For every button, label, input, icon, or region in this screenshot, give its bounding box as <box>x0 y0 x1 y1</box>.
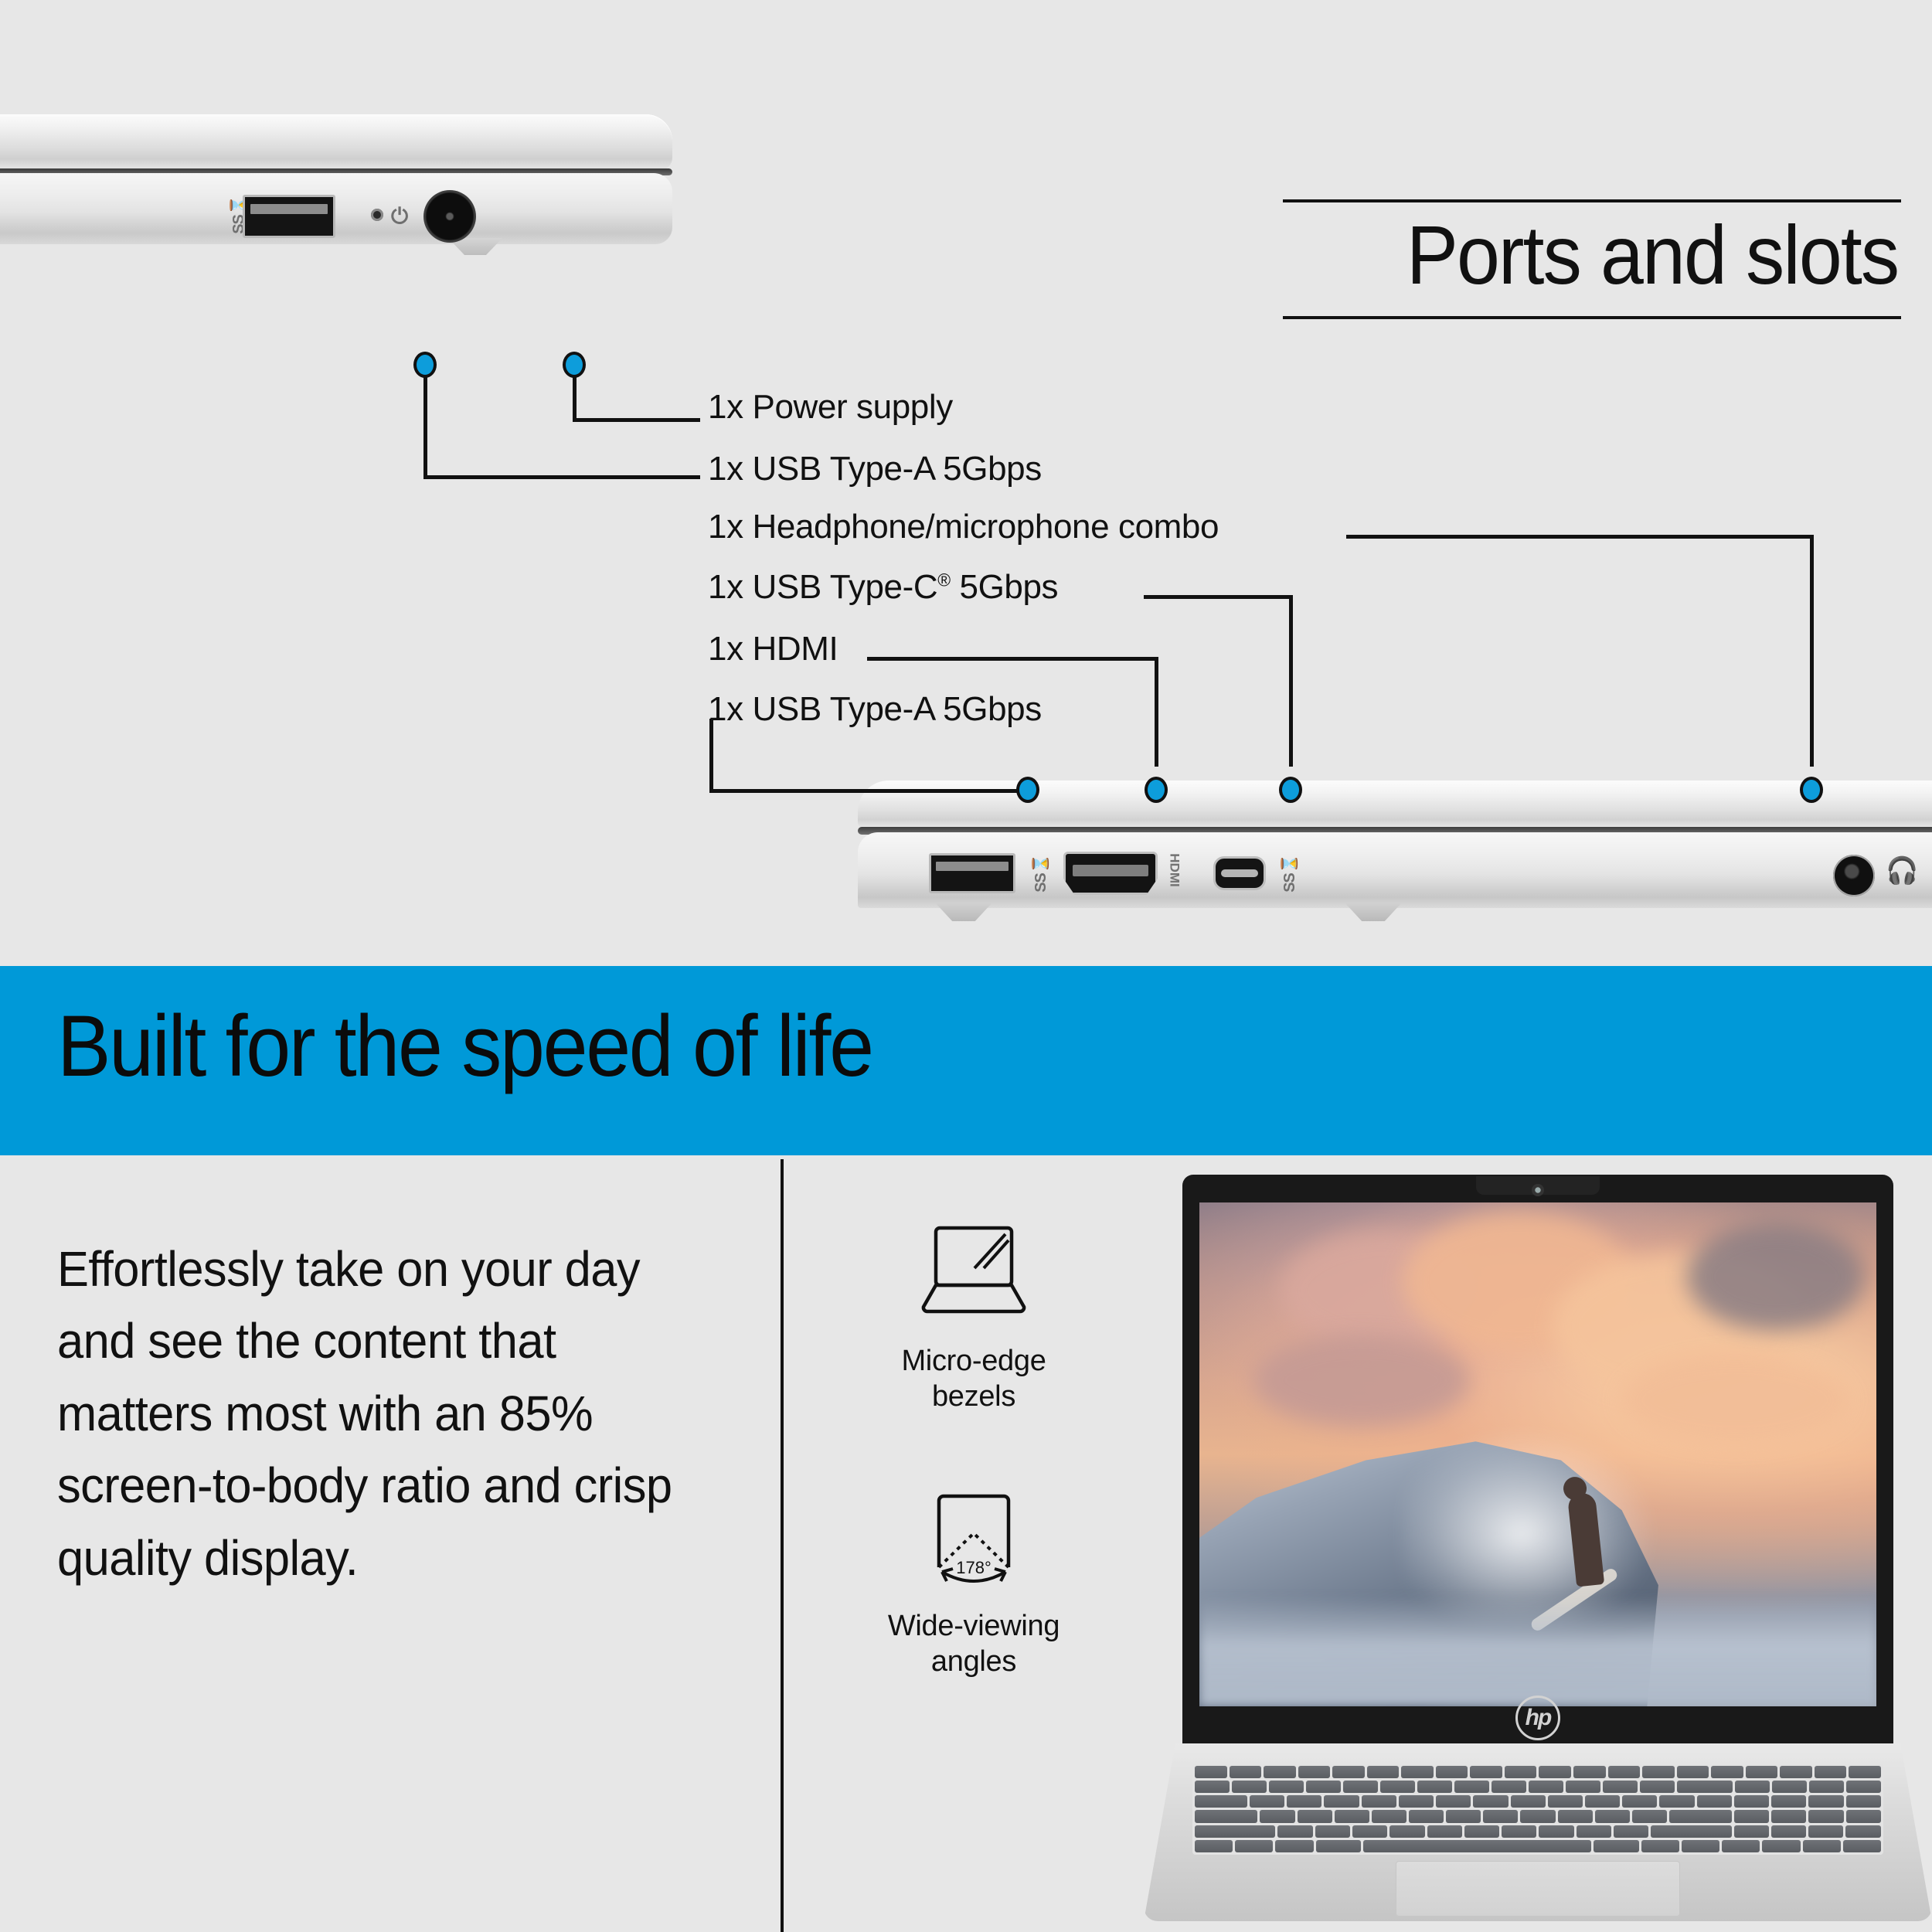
key[interactable] <box>1735 1781 1770 1793</box>
key[interactable] <box>1454 1781 1489 1793</box>
fn-key[interactable] <box>1235 1840 1273 1852</box>
ports-and-slots-section: Ports and slots SS⌛ ⏻ 1x Power supply 1x… <box>0 0 1932 966</box>
key[interactable] <box>1803 1840 1841 1852</box>
key[interactable] <box>1558 1810 1593 1822</box>
key[interactable] <box>1809 1781 1844 1793</box>
key[interactable] <box>1389 1825 1424 1838</box>
key[interactable] <box>1734 1825 1769 1838</box>
laptop-screen-wallpaper <box>1199 1202 1876 1706</box>
leader-line-headphone-h <box>1346 535 1813 539</box>
key[interactable] <box>1603 1781 1638 1793</box>
key[interactable] <box>1548 1795 1583 1808</box>
key[interactable] <box>1771 1810 1806 1822</box>
key[interactable] <box>1315 1825 1350 1838</box>
key[interactable] <box>1622 1795 1657 1808</box>
power-led-icon <box>371 209 383 221</box>
enter-key[interactable] <box>1669 1810 1732 1822</box>
key[interactable] <box>1324 1795 1359 1808</box>
key[interactable] <box>1436 1795 1471 1808</box>
key[interactable] <box>1771 1825 1806 1838</box>
laptop-keyboard-deck <box>1144 1743 1932 1921</box>
key[interactable] <box>1632 1810 1667 1822</box>
key[interactable] <box>1697 1795 1732 1808</box>
micro-edge-bezels-icon <box>862 1213 1086 1329</box>
key[interactable] <box>1577 1825 1611 1838</box>
page-title: Ports and slots <box>1326 202 1901 313</box>
speed-of-life-banner: Built for the speed of life <box>0 966 1932 1155</box>
header-rule-bottom <box>1283 316 1901 319</box>
callout-label-headphone-combo: 1x Headphone/microphone combo <box>708 510 1219 544</box>
laptop-foot-right <box>1345 903 1402 921</box>
key[interactable] <box>1642 1766 1675 1778</box>
key[interactable] <box>1677 1766 1709 1778</box>
callout-label-usb-c: 1x USB Type-C® 5Gbps <box>708 570 1058 604</box>
windows-key[interactable] <box>1275 1840 1313 1852</box>
laptop-lid <box>0 114 672 170</box>
key[interactable] <box>1808 1825 1843 1838</box>
key[interactable] <box>1195 1766 1227 1778</box>
key[interactable] <box>1808 1795 1843 1808</box>
keyboard-row <box>1195 1810 1881 1822</box>
wave-spray <box>1403 1394 1700 1626</box>
registered-mark: ® <box>937 570 950 590</box>
wide-viewing-angles-icon: 178° <box>862 1478 1086 1594</box>
touchpad[interactable] <box>1396 1861 1679 1917</box>
key[interactable] <box>1306 1781 1341 1793</box>
key[interactable] <box>1277 1825 1312 1838</box>
key[interactable] <box>1250 1795 1284 1808</box>
callout-label-usb-c-speed: 5Gbps <box>951 568 1058 606</box>
key[interactable] <box>1659 1795 1694 1808</box>
key[interactable] <box>1846 1781 1881 1793</box>
key[interactable] <box>1230 1766 1262 1778</box>
key[interactable] <box>1473 1795 1508 1808</box>
key[interactable] <box>1614 1825 1648 1838</box>
key[interactable] <box>1539 1766 1571 1778</box>
key[interactable] <box>1734 1810 1769 1822</box>
key[interactable] <box>1573 1766 1606 1778</box>
key[interactable] <box>1849 1766 1881 1778</box>
key[interactable] <box>1298 1766 1331 1778</box>
ports-header: Ports and slots <box>1283 199 1901 319</box>
leader-line-usb-a-top-h <box>423 475 700 479</box>
feature-wide-viewing-angles: 178° Wide-viewing angles <box>862 1478 1086 1680</box>
key[interactable] <box>1401 1766 1434 1778</box>
key[interactable] <box>1446 1810 1481 1822</box>
shift-key[interactable] <box>1195 1825 1275 1838</box>
key[interactable] <box>1780 1766 1812 1778</box>
callout-dot-usb-a-top <box>413 352 437 378</box>
leader-line-hdmi-v <box>1155 657 1158 767</box>
power-plug-icon: ⏻ <box>391 204 407 230</box>
key[interactable] <box>1464 1825 1499 1838</box>
key[interactable] <box>1436 1766 1468 1778</box>
key[interactable] <box>1520 1810 1555 1822</box>
key[interactable] <box>1711 1766 1743 1778</box>
key[interactable] <box>1367 1766 1400 1778</box>
caption-line-2: bezels <box>932 1380 1015 1413</box>
viewing-angle-value: 178° <box>956 1558 992 1577</box>
hdmi-label-icon: HDMI <box>1167 853 1182 886</box>
laptop-base <box>0 173 672 244</box>
key[interactable] <box>1335 1810 1369 1822</box>
key[interactable] <box>1843 1840 1881 1852</box>
key[interactable] <box>1585 1795 1620 1808</box>
key[interactable] <box>1505 1766 1537 1778</box>
hp-logo: hp <box>1515 1696 1560 1740</box>
key[interactable] <box>1427 1825 1462 1838</box>
leader-line-headphone-v <box>1810 535 1814 767</box>
right-alt-key[interactable] <box>1594 1840 1639 1852</box>
key[interactable] <box>1746 1766 1778 1778</box>
section-divider <box>781 1159 784 1932</box>
callout-label-power-supply: 1x Power supply <box>708 390 953 424</box>
wide-viewing-angles-caption: Wide-viewing angles <box>862 1608 1086 1680</box>
superspeed-icon: SS⌛ <box>1280 855 1299 893</box>
leader-line-hdmi-h <box>867 657 1158 661</box>
leader-line-power-supply-v <box>573 376 577 422</box>
usb-type-a-port <box>243 195 335 238</box>
key[interactable] <box>1845 1825 1880 1838</box>
water-foam <box>1199 1596 1876 1706</box>
callout-dot-headphone-combo <box>1800 777 1823 803</box>
key[interactable] <box>1815 1766 1847 1778</box>
key[interactable] <box>1771 1795 1806 1808</box>
key[interactable] <box>1772 1781 1807 1793</box>
callout-dot-power-supply <box>563 352 586 378</box>
key[interactable] <box>1372 1810 1406 1822</box>
laptop-right-edge-image: SS⌛ ⏻ <box>0 114 672 250</box>
key[interactable] <box>1511 1795 1546 1808</box>
keyboard <box>1192 1764 1883 1855</box>
caption-line-2: angles <box>931 1645 1016 1678</box>
key[interactable] <box>1566 1781 1600 1793</box>
leader-line-usb-a-bottom-h <box>709 789 1028 793</box>
caps-lock-key[interactable] <box>1195 1810 1257 1822</box>
feature-icon-column: Micro-edge bezels 178° Wide-viewing angl… <box>862 1213 1086 1679</box>
key[interactable] <box>1502 1825 1536 1838</box>
webcam-icon <box>1532 1184 1544 1196</box>
laptop-product-image: hp <box>1144 1175 1932 1932</box>
key[interactable] <box>1595 1810 1630 1822</box>
arrow-right-key[interactable] <box>1762 1840 1800 1852</box>
keyboard-row <box>1195 1795 1881 1808</box>
superspeed-icon: SS⌛ <box>1031 855 1050 893</box>
key[interactable] <box>1343 1781 1378 1793</box>
key[interactable] <box>1417 1781 1452 1793</box>
feature-micro-edge-bezels: Micro-edge bezels <box>862 1213 1086 1415</box>
keyboard-row <box>1195 1766 1881 1778</box>
key[interactable] <box>1232 1781 1267 1793</box>
key[interactable] <box>1808 1810 1843 1822</box>
space-key[interactable] <box>1363 1840 1591 1852</box>
key[interactable] <box>1539 1825 1573 1838</box>
key[interactable] <box>1409 1810 1444 1822</box>
key[interactable] <box>1608 1766 1641 1778</box>
right-shift-key[interactable] <box>1651 1825 1731 1838</box>
key[interactable] <box>1483 1810 1518 1822</box>
display-features-section: Effortlessly take on your day and see th… <box>0 1159 1932 1932</box>
callout-label-usb-a-bottom: 1x USB Type-A 5Gbps <box>708 692 1042 726</box>
right-ctrl-key[interactable] <box>1641 1840 1679 1852</box>
key[interactable] <box>1332 1766 1365 1778</box>
power-supply-jack <box>423 190 476 243</box>
key[interactable] <box>1264 1766 1296 1778</box>
arrow-left-key[interactable] <box>1682 1840 1719 1852</box>
key[interactable] <box>1260 1810 1294 1822</box>
leader-line-power-supply-h <box>573 418 700 422</box>
keyboard-row <box>1195 1840 1881 1852</box>
keyboard-row <box>1195 1825 1881 1838</box>
key[interactable] <box>1529 1781 1563 1793</box>
tab-key[interactable] <box>1195 1795 1247 1808</box>
headset-icon: 🎧 <box>1886 858 1918 884</box>
feature-body-copy: Effortlessly take on your day and see th… <box>57 1233 710 1594</box>
micro-edge-bezels-caption: Micro-edge bezels <box>862 1343 1086 1415</box>
usb-type-a-port <box>929 853 1015 893</box>
ctrl-key[interactable] <box>1195 1840 1233 1852</box>
laptop-display-lid: hp <box>1182 1175 1893 1747</box>
headphone-microphone-jack <box>1833 855 1875 896</box>
hdmi-port <box>1063 852 1158 895</box>
callout-dot-hdmi <box>1145 777 1168 803</box>
leader-line-usb-c-h <box>1144 595 1293 599</box>
key[interactable] <box>1470 1766 1502 1778</box>
usb-type-c-port <box>1213 856 1266 890</box>
key[interactable] <box>1380 1781 1415 1793</box>
leader-line-usb-a-top-v <box>423 376 427 479</box>
backspace-key[interactable] <box>1677 1781 1733 1793</box>
key[interactable] <box>1195 1781 1230 1793</box>
laptop-base <box>858 832 1932 908</box>
callout-dot-usb-c <box>1279 777 1302 803</box>
alt-key[interactable] <box>1316 1840 1362 1852</box>
callout-label-usb-a-top: 1x USB Type-A 5Gbps <box>708 452 1042 486</box>
laptop-left-edge-image: SS⌛ HDMI SS⌛ 🎧 <box>858 781 1932 935</box>
key[interactable] <box>1492 1781 1526 1793</box>
arrow-up-down-key[interactable] <box>1722 1840 1760 1852</box>
key[interactable] <box>1362 1795 1396 1808</box>
caption-line-1: Wide-viewing <box>888 1610 1060 1642</box>
key[interactable] <box>1298 1810 1332 1822</box>
key[interactable] <box>1269 1781 1304 1793</box>
key[interactable] <box>1846 1795 1881 1808</box>
key[interactable] <box>1640 1781 1675 1793</box>
callout-label-hdmi: 1x HDMI <box>708 632 838 666</box>
leader-line-usb-c-v <box>1289 595 1293 767</box>
caption-line-1: Micro-edge <box>901 1345 1046 1377</box>
laptop-foot-left <box>935 903 992 921</box>
leader-line-usb-a-bottom-v <box>709 719 713 793</box>
key[interactable] <box>1846 1810 1881 1822</box>
callout-label-usb-c-text: 1x USB Type-C <box>708 568 937 606</box>
keyboard-row <box>1195 1781 1881 1793</box>
key[interactable] <box>1734 1795 1769 1808</box>
key[interactable] <box>1352 1825 1387 1838</box>
banner-title: Built for the speed of life <box>57 1003 872 1090</box>
key[interactable] <box>1287 1795 1321 1808</box>
key[interactable] <box>1399 1795 1434 1808</box>
callout-dot-usb-a-bottom <box>1016 777 1039 803</box>
